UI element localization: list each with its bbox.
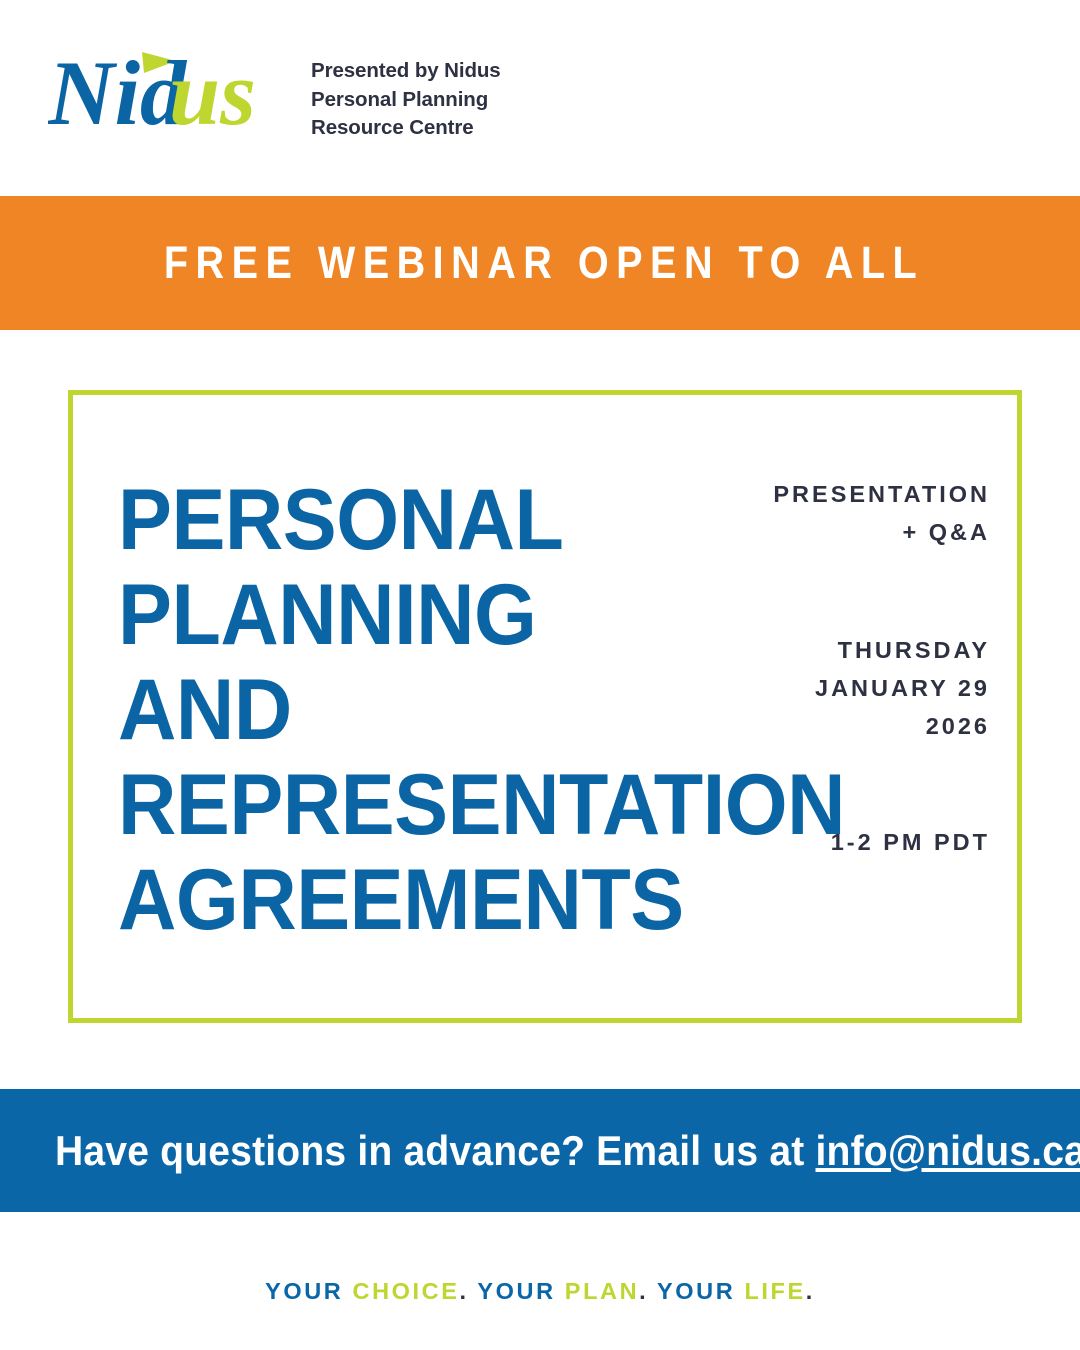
brand-tagline: YOUR CHOICE. YOUR PLAN. YOUR LIFE. (0, 1278, 1080, 1305)
event-date: THURSDAY JANUARY 29 2026 (610, 631, 990, 745)
tagline-choice: CHOICE (353, 1278, 460, 1304)
tagline-dot-1: . (460, 1278, 469, 1304)
event-date-day: JANUARY 29 (610, 669, 990, 707)
event-card: Personal Planning and Representation Agr… (68, 390, 1022, 1023)
tagline-plan: PLAN (565, 1278, 639, 1304)
details-spacer-1 (610, 551, 990, 631)
logo-text-nid: Nid (48, 42, 188, 144)
contact-email-link[interactable]: info@nidus.ca (816, 1127, 1080, 1174)
banner-headline: FREE WEBINAR OPEN TO ALL (156, 237, 924, 289)
tagline-dot-3: . (806, 1278, 815, 1304)
event-details: PRESENTATION + Q&A THURSDAY JANUARY 29 2… (610, 475, 990, 861)
nidus-logo: Nid us (48, 42, 288, 146)
nidus-logo-svg: Nid us (48, 42, 288, 146)
presented-by-line-1: Presented by Nidus (311, 57, 501, 86)
event-format: PRESENTATION + Q&A (610, 475, 990, 551)
free-webinar-banner: FREE WEBINAR OPEN TO ALL (0, 196, 1080, 330)
tagline-your-2: YOUR (477, 1278, 555, 1304)
event-format-line-2: + Q&A (610, 513, 990, 551)
contact-question-label: Have questions in advance? Email us at (55, 1127, 816, 1174)
event-time-value: 1-2 PM PDT (610, 823, 990, 861)
tagline-dot-2: . (639, 1278, 648, 1304)
logo-text-us: us (169, 42, 256, 144)
event-title: Personal Planning and Representation Agr… (118, 473, 682, 948)
event-format-line-1: PRESENTATION (610, 475, 990, 513)
event-date-weekday: THURSDAY (610, 631, 990, 669)
presented-by-text: Presented by Nidus Personal Planning Res… (311, 57, 501, 143)
tagline-your-3: YOUR (657, 1278, 735, 1304)
contact-footer-band: Have questions in advance? Email us at i… (0, 1089, 1080, 1212)
presented-by-line-3: Resource Centre (311, 114, 501, 143)
presented-by-line-2: Personal Planning (311, 86, 501, 115)
tagline-your-1: YOUR (265, 1278, 343, 1304)
contact-footer-text: Have questions in advance? Email us at i… (55, 1127, 1080, 1175)
event-date-year: 2026 (610, 707, 990, 745)
tagline-life: LIFE (744, 1278, 805, 1304)
event-time: 1-2 PM PDT (610, 823, 990, 861)
page-header: Nid us Presented by Nidus Personal Plann… (0, 0, 1080, 196)
details-spacer-2 (610, 745, 990, 823)
